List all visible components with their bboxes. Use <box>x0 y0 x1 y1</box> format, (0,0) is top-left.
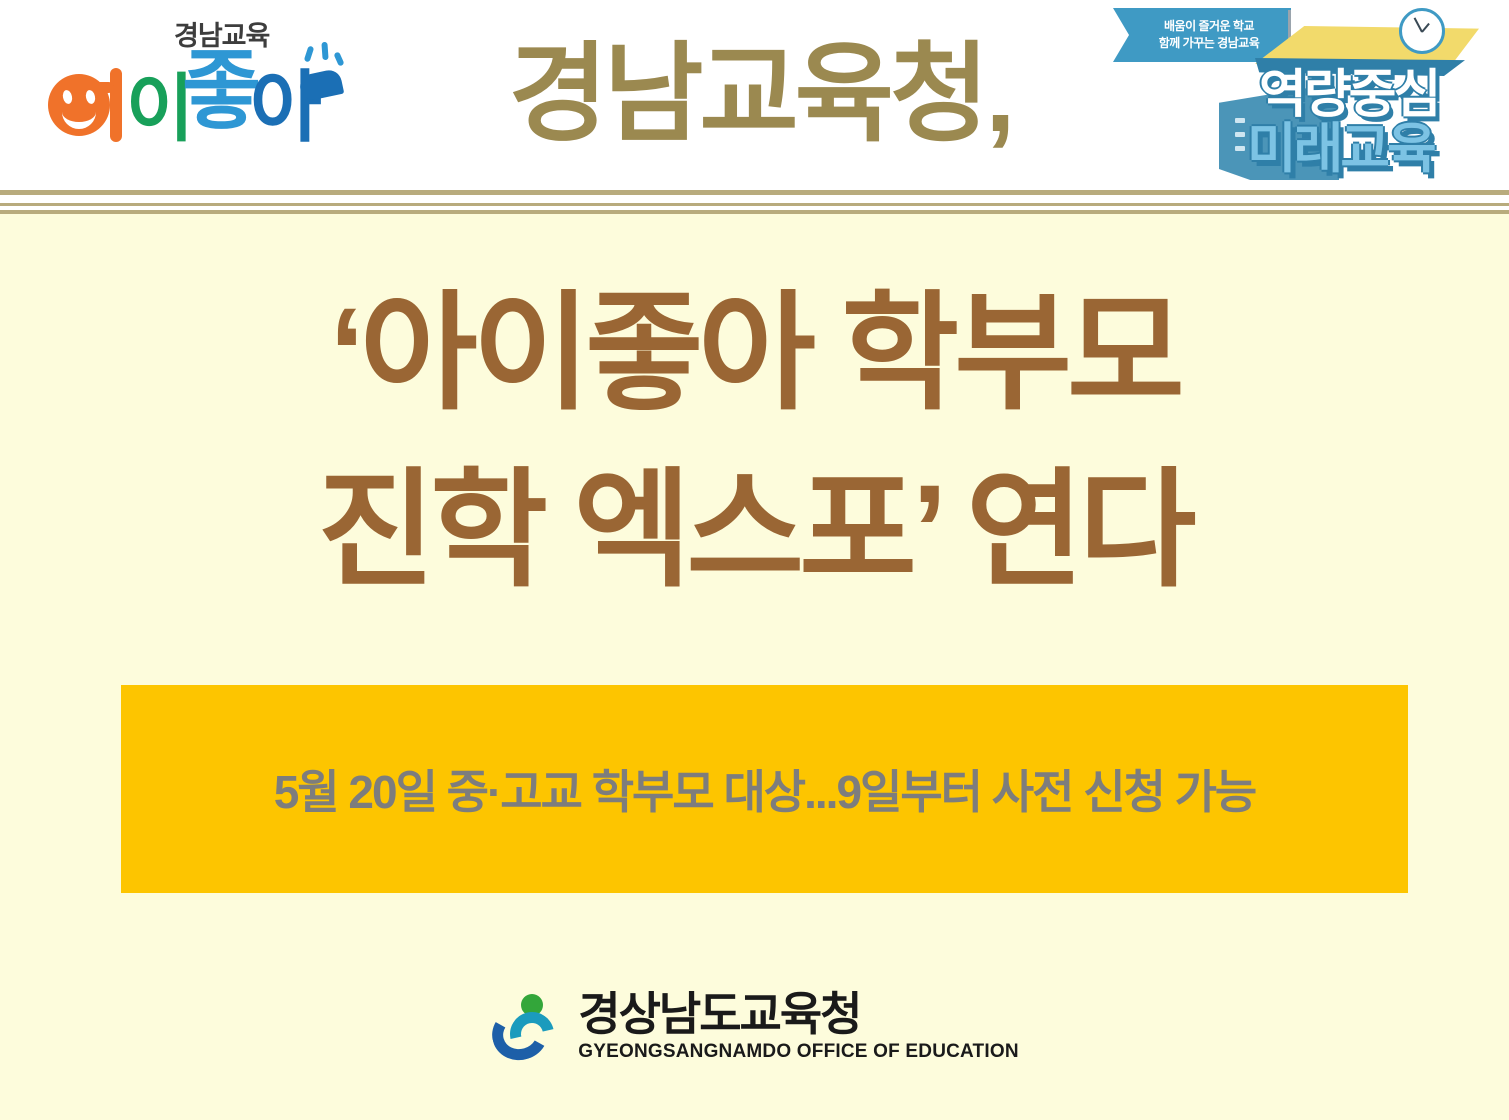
clock-minute-hand-icon <box>1414 17 1423 32</box>
emblem-book-ridge-3 <box>1235 146 1245 151</box>
brand-sparkle-icon-2 <box>321 42 328 60</box>
emblem-flag-line2: 함께 가꾸는 경남교육 <box>1159 35 1260 52</box>
emblem-book-ridge-1 <box>1235 118 1245 123</box>
smiley-mouth-icon <box>62 100 96 129</box>
emblem-book-ridge-2 <box>1235 132 1245 137</box>
office-logo: 경상남도교육청 GYEONGSANGNAMDO OFFICE OF EDUCAT… <box>0 990 1509 1064</box>
brand-char-a1-stem <box>110 68 122 142</box>
headline-line-2: 진학 엑스포’ 연다 <box>0 443 1509 620</box>
emblem-title-line2: 미래교육 <box>1247 104 1434 183</box>
emblem-clock-icon <box>1399 8 1445 54</box>
office-emblem-icon <box>490 994 564 1060</box>
gold-divider <box>0 190 1509 214</box>
aijoa-brand-logo: 경남교육 이 좋 아 <box>14 6 344 176</box>
main-headline: ‘아이좋아 학부모 진학 엑스포’ 연다 <box>0 266 1509 619</box>
office-name-english: GYEONGSANGNAMDO OFFICE OF EDUCATION <box>578 1041 1018 1064</box>
body-area: ‘아이좋아 학부모 진학 엑스포’ 연다 5월 20일 중·고교 학부모 대상.… <box>0 214 1509 1120</box>
headline-line-1: ‘아이좋아 학부모 <box>0 266 1509 443</box>
office-emblem-blue-arc-icon <box>486 1001 554 1066</box>
future-education-emblem: 배움이 즐거운 학교 함께 가꾸는 경남교육 역량중심 미래교육 <box>1083 0 1503 190</box>
office-logo-text: 경상남도교육청 GYEONGSANGNAMDO OFFICE OF EDUCAT… <box>578 990 1018 1064</box>
brand-char-a1-bar <box>92 82 114 93</box>
divider-rule-1 <box>0 190 1509 195</box>
brand-wordmark: 이 좋 아 <box>14 38 344 168</box>
subtitle-text: 5월 20일 중·고교 학부모 대상...9일부터 사전 신청 가능 <box>274 756 1256 822</box>
poster-root: 경남교육 이 좋 아 경남교육청, <box>0 0 1509 1120</box>
office-name-korean: 경상남도교육청 <box>578 990 860 1038</box>
subtitle-banner: 5월 20일 중·고교 학부모 대상...9일부터 사전 신청 가능 <box>121 685 1408 893</box>
brand-sparkle-icon-1 <box>304 45 315 62</box>
header-band: 경남교육 이 좋 아 경남교육청, <box>0 0 1509 190</box>
brand-sparkle-icon-3 <box>333 51 344 66</box>
divider-rule-2 <box>0 203 1509 206</box>
header-title: 경남교육청, <box>420 28 1100 160</box>
emblem-flag-line1: 배움이 즐거운 학교 <box>1164 18 1254 35</box>
